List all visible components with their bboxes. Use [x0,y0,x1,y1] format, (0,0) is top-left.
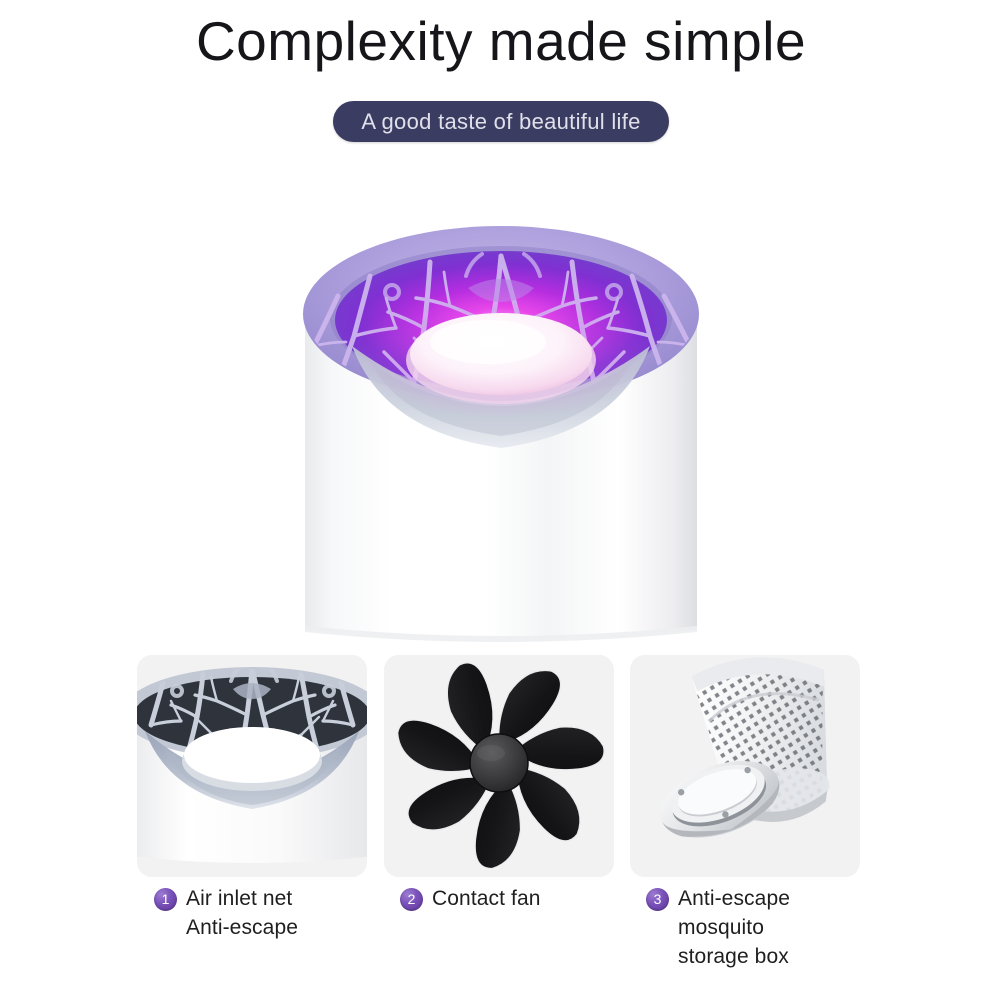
product-feature-page: Complexity made simple A good taste of b… [0,0,1002,1002]
caption-text-1: Air inlet net Anti-escape [186,884,298,942]
caption-line: Anti-escape [186,913,298,942]
fan-blades-illustration [384,655,614,877]
mosquito-lamp-illustration [0,196,1002,656]
feature-cards-row [0,655,1002,885]
caption-line: Air inlet net [186,884,298,913]
caption-line: Contact fan [432,884,541,913]
step-badge-1: 1 [154,888,177,911]
storage-box-card[interactable] [630,655,860,877]
caption-contact-fan: 2 Contact fan [400,884,620,913]
perforated-basket-illustration [630,655,860,877]
page-title: Complexity made simple [0,12,1002,71]
caption-text-3: Anti-escape mosquito storage box [678,884,790,971]
contact-fan-card[interactable] [384,655,614,877]
subtitle-badge: A good taste of beautiful life [333,101,668,142]
step-badge-2: 2 [400,888,423,911]
grille-lattice-illustration [137,655,367,877]
caption-line: Anti-escape [678,884,790,913]
subtitle-row: A good taste of beautiful life [0,101,1002,142]
caption-text-2: Contact fan [432,884,541,913]
caption-row: 1 Air inlet net Anti-escape 2 Contact fa… [0,884,1002,1002]
caption-air-inlet-net: 1 Air inlet net Anti-escape [154,884,374,942]
caption-storage-box: 3 Anti-escape mosquito storage box [646,884,876,971]
caption-line: mosquito [678,913,790,942]
caption-line: storage box [678,942,790,971]
step-badge-3: 3 [646,888,669,911]
hero-product-image [0,196,1002,656]
air-inlet-net-card[interactable] [137,655,367,877]
